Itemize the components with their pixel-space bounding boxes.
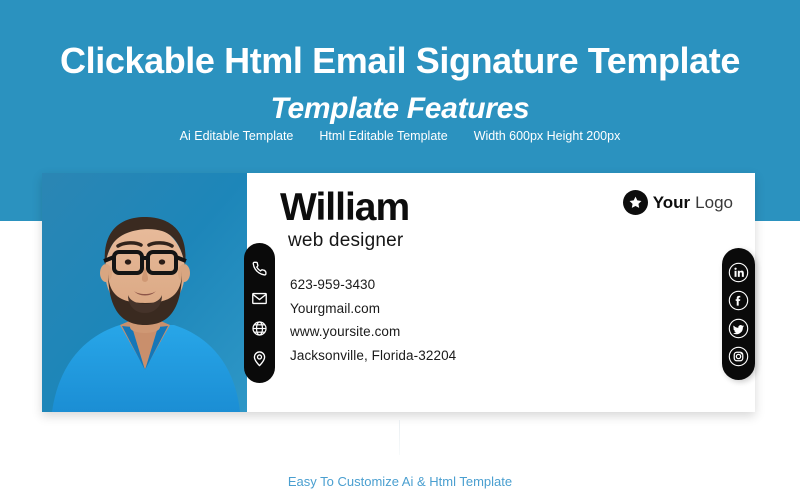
footer-caption: Easy To Customize Ai & Html Template [0,474,800,489]
brand-logo[interactable]: Your Logo [623,190,733,215]
feature-item-ai: Ai Editable Template [180,129,294,143]
logo-text-light: Logo [695,193,733,213]
contact-row-address[interactable]: Jacksonville, Florida-32204 [290,344,456,368]
feature-item-html: Html Editable Template [319,129,447,143]
social-icons-pill [722,248,755,380]
logo-text-strong: Your [653,193,690,213]
contact-row-website[interactable]: www.yoursite.com [290,320,456,344]
footer-divider [399,420,400,455]
linkedin-icon[interactable] [728,262,749,283]
contact-row-email[interactable]: Yourgmail.com [290,297,456,321]
page-title: Clickable Html Email Signature Template [0,40,800,82]
feature-list: Ai Editable Template Html Editable Templ… [0,129,800,143]
location-pin-icon[interactable] [251,350,268,367]
twitter-icon[interactable] [728,318,749,339]
contact-icons-pill [244,243,275,383]
page-subtitle: Template Features [0,92,800,126]
contact-row-phone[interactable]: 623-959-3430 [290,273,456,297]
envelope-icon[interactable] [251,290,268,307]
star-icon [623,190,648,215]
instagram-icon[interactable] [728,346,749,367]
facebook-icon[interactable] [728,290,749,311]
signature-role: web designer [288,230,403,252]
globe-icon[interactable] [251,320,268,337]
profile-photo [42,173,247,412]
signature-name: William [280,188,409,227]
phone-icon[interactable] [251,260,268,277]
feature-item-size: Width 600px Height 200px [474,129,621,143]
signature-card: William web designer Your Logo 623-959-3… [42,173,755,412]
poster-canvas: Clickable Html Email Signature Template … [0,0,800,500]
contact-list: 623-959-3430 Yourgmail.com www.yoursite.… [290,273,456,367]
